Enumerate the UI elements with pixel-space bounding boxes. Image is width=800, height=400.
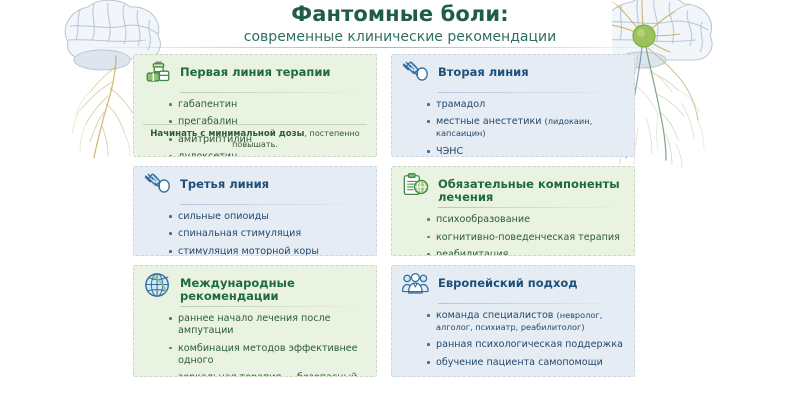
card-item-list: команда специалистов (невролог, алголог,… [401, 310, 625, 369]
card-note: Начинать с минимальной дозы, постепенно … [143, 124, 367, 150]
list-item: габапентин [169, 99, 367, 111]
list-item: когнитивно-поведенческая терапия [427, 232, 625, 244]
card-header: Европейский подход [401, 272, 625, 302]
card-third-line: Третья линиясильные опиоидыспинальная ст… [133, 166, 377, 256]
card-title-divider [438, 92, 625, 93]
card-header: Первая линия терапии [143, 61, 367, 91]
globe-icon [143, 271, 173, 299]
list-item: трамадол [427, 99, 625, 111]
card-title-divider [180, 204, 367, 205]
card-header: Международные рекомендации [143, 272, 367, 305]
card-title-divider [438, 303, 625, 304]
list-item: команда специалистов (невролог, алголог,… [427, 310, 625, 334]
card-header: Обязательные компоненты лечения [401, 173, 625, 206]
list-item: местные анестетики (лидокаин, капсаицин) [427, 116, 625, 140]
card-item-list: трамадолместные анестетики (лидокаин, ка… [401, 99, 625, 157]
list-item: дулоксетин [169, 151, 367, 157]
list-item: обучение пациента самопомощи [427, 357, 625, 369]
card-second-line: Вторая линиятрамадолместные анестетики (… [391, 54, 635, 157]
card-title: Вторая линия [438, 61, 625, 79]
list-item: зеркальная терапия — безопасный метод пе… [169, 372, 367, 377]
list-item: психообразование [427, 214, 625, 226]
card-note-emphasis: Начинать с минимальной дозы [150, 129, 304, 139]
card-title-divider [180, 92, 367, 93]
list-item: спинальная стимуляция [169, 228, 367, 240]
list-item: стимуляция моторной коры [169, 246, 367, 256]
card-title-divider [180, 306, 367, 307]
card-european-approach: Европейский подходкоманда специалистов (… [391, 265, 635, 377]
syringe-icon [401, 60, 431, 88]
card-title: Третья линия [180, 173, 367, 191]
syringe-icon [143, 172, 173, 200]
card-header: Вторая линия [401, 61, 625, 91]
team-of-people-icon [401, 271, 431, 299]
list-item: комбинация методов эффективнее одного [169, 343, 367, 367]
clipboard-head-icon [401, 172, 431, 200]
list-item: сильные опиоиды [169, 211, 367, 223]
card-first-line-therapy: Первая линия терапиигабапентинпрегабалин… [133, 54, 377, 157]
header-divider [95, 47, 655, 48]
card-title: Первая линия терапии [180, 61, 367, 79]
card-title: Обязательные компоненты лечения [438, 173, 625, 203]
list-item: раннее начало лечения после ампутации [169, 313, 367, 337]
list-item: реабилитация [427, 249, 625, 256]
card-header: Третья линия [143, 173, 367, 203]
page-header: Фантомные боли: современные клинические … [0, 0, 800, 50]
card-item-list: сильные опиоидыспинальная стимуляциястим… [143, 211, 367, 256]
infographic-page: Фантомные боли: современные клинические … [0, 0, 800, 400]
card-item-list: раннее начало лечения после ампутацииком… [143, 313, 367, 377]
card-title: Европейский подход [438, 272, 625, 290]
list-item: ранная психологическая поддержка [427, 339, 625, 351]
card-mandatory-components: Обязательные компоненты леченияпсихообра… [391, 166, 635, 256]
card-title: Международные рекомендации [180, 272, 367, 302]
page-subtitle: современные клинические рекомендации [0, 27, 800, 45]
page-title: Фантомные боли: [0, 0, 800, 27]
card-international-recommendations: Международные рекомендациираннее начало … [133, 265, 377, 377]
list-item: ЧЭНС [427, 146, 625, 157]
pill-bottle-icon [143, 60, 173, 88]
card-title-divider [438, 207, 625, 208]
cards-grid: Первая линия терапиигабапентинпрегабалин… [133, 54, 670, 379]
card-item-list: психообразованиекогнитивно-поведенческая… [401, 214, 625, 256]
